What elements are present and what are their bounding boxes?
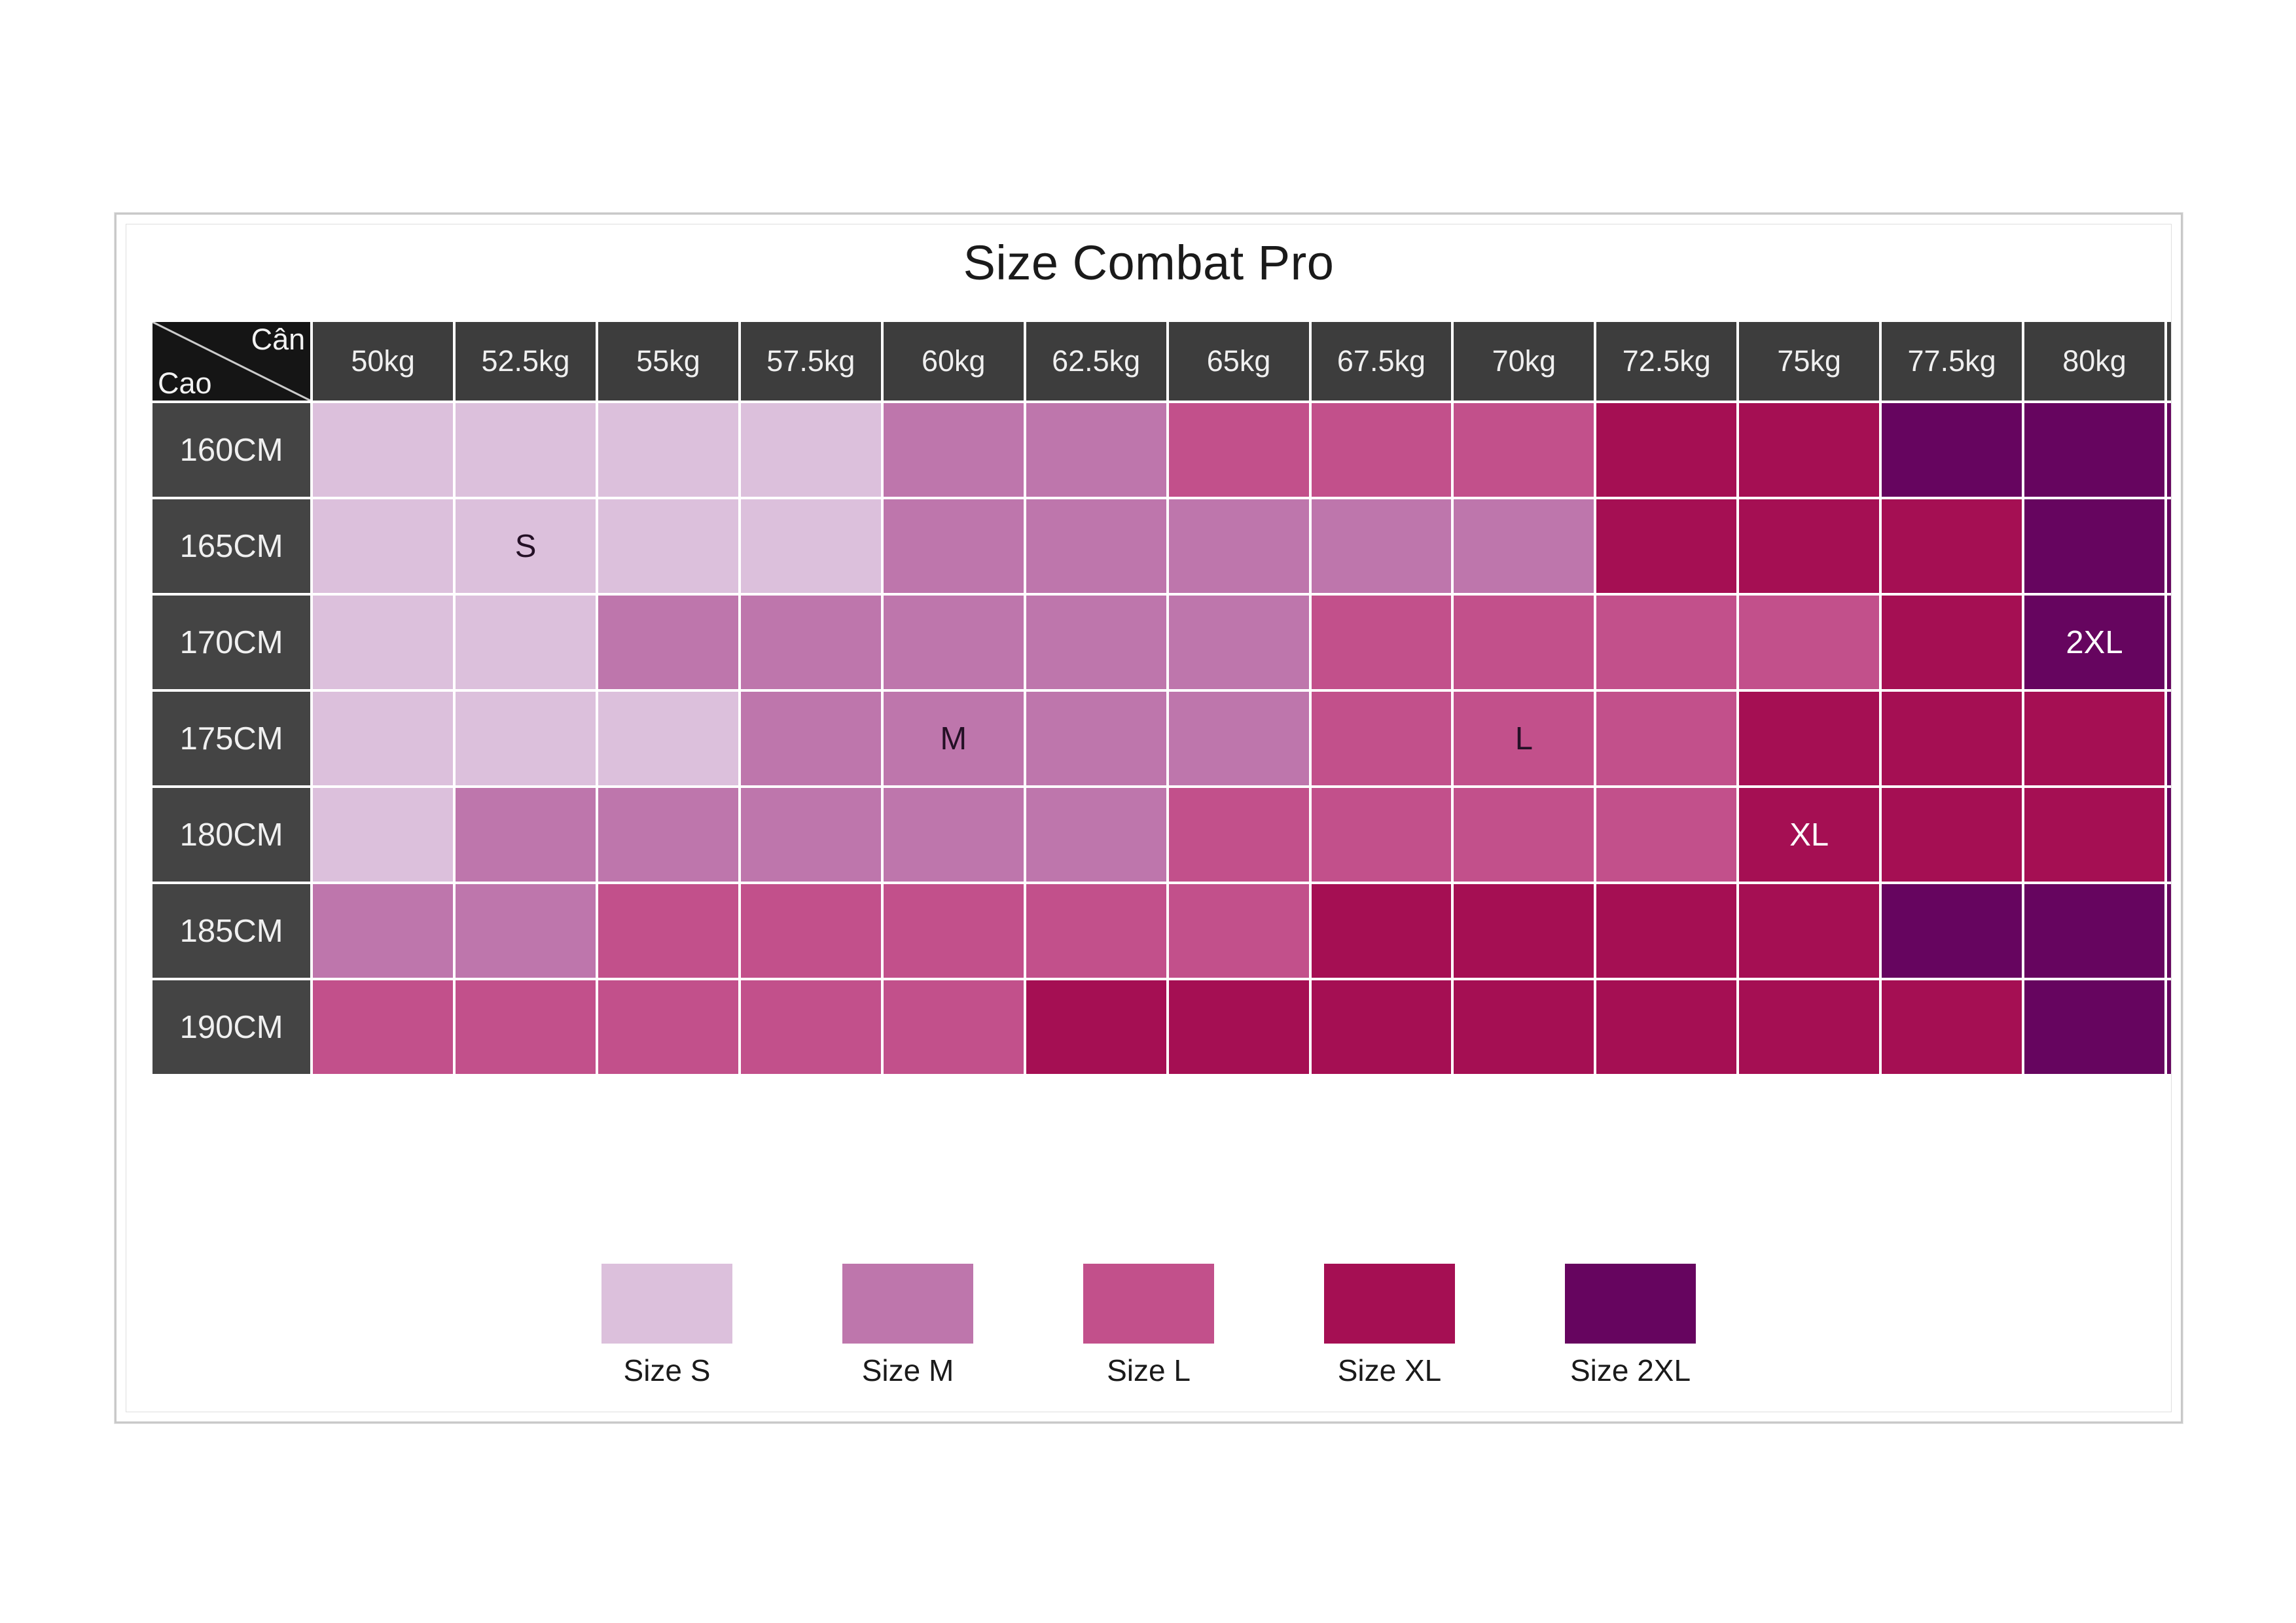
weight-column-header: 67.5kg bbox=[1312, 322, 1452, 401]
legend-swatch bbox=[1565, 1264, 1696, 1344]
legend-item: Size L bbox=[1083, 1264, 1214, 1388]
size-cell: 2XL bbox=[2024, 596, 2164, 689]
size-chart-frame: Size Combat Pro Cân Cao 50kg52.5kg55kg57… bbox=[115, 213, 2183, 1423]
size-cell bbox=[1312, 692, 1452, 785]
table-row: 170CM2XL bbox=[152, 596, 2171, 689]
size-cell bbox=[456, 403, 596, 497]
height-row-header: 185CM bbox=[152, 884, 310, 978]
table-row: 165CMS bbox=[152, 499, 2171, 593]
size-cell bbox=[2024, 884, 2164, 978]
size-cell bbox=[1312, 788, 1452, 882]
weight-column-header: 70kg bbox=[1454, 322, 1594, 401]
table-row: 190CM bbox=[152, 980, 2171, 1074]
legend-label: Size 2XL bbox=[1570, 1353, 1691, 1388]
size-cell bbox=[456, 980, 596, 1074]
size-cell bbox=[598, 403, 738, 497]
weight-axis-label: Cân bbox=[251, 325, 306, 354]
table-row: 175CMML bbox=[152, 692, 2171, 785]
height-row-header: 180CM bbox=[152, 788, 310, 882]
size-cell bbox=[1596, 403, 1736, 497]
size-cell bbox=[1169, 499, 1309, 593]
legend-swatch bbox=[842, 1264, 973, 1344]
size-cell bbox=[2167, 499, 2171, 593]
size-cell bbox=[1596, 692, 1736, 785]
axis-corner-cell: Cân Cao bbox=[152, 322, 310, 401]
weight-column-header: 57.5kg bbox=[741, 322, 881, 401]
legend-label: Size M bbox=[862, 1353, 954, 1388]
size-cell bbox=[598, 980, 738, 1074]
size-cell bbox=[884, 884, 1024, 978]
legend-item: Size M bbox=[842, 1264, 973, 1388]
table-body: 160CM165CMS170CM2XL175CMML180CMXL185CM19… bbox=[152, 403, 2171, 1074]
height-row-header: 160CM bbox=[152, 403, 310, 497]
size-cell bbox=[884, 788, 1024, 882]
size-cell bbox=[1882, 692, 2022, 785]
size-cell bbox=[598, 499, 738, 593]
size-cell bbox=[456, 788, 596, 882]
size-cell bbox=[2024, 980, 2164, 1074]
legend-item: Size S bbox=[601, 1264, 732, 1388]
weight-column-header: 80kg bbox=[2024, 322, 2164, 401]
size-cell bbox=[2167, 980, 2171, 1074]
size-cell bbox=[313, 884, 453, 978]
size-cell bbox=[598, 884, 738, 978]
table-row: 160CM bbox=[152, 403, 2171, 497]
size-cell: M bbox=[884, 692, 1024, 785]
size-cell bbox=[1169, 596, 1309, 689]
table-header-row: Cân Cao 50kg52.5kg55kg57.5kg60kg62.5kg65… bbox=[152, 322, 2171, 401]
size-cell bbox=[741, 596, 881, 689]
size-cell bbox=[884, 596, 1024, 689]
size-cell bbox=[313, 692, 453, 785]
size-cell bbox=[741, 403, 881, 497]
size-cell bbox=[313, 499, 453, 593]
size-cell bbox=[741, 788, 881, 882]
legend-label: Size L bbox=[1107, 1353, 1191, 1388]
size-cell bbox=[313, 596, 453, 689]
size-cell bbox=[1454, 499, 1594, 593]
size-cell bbox=[1169, 403, 1309, 497]
size-cell bbox=[1169, 692, 1309, 785]
size-cell bbox=[1882, 980, 2022, 1074]
size-cell bbox=[741, 980, 881, 1074]
legend-swatch bbox=[1083, 1264, 1214, 1344]
size-matrix-table: Cân Cao 50kg52.5kg55kg57.5kg60kg62.5kg65… bbox=[150, 319, 2171, 1077]
weight-column-header: 75kg bbox=[1739, 322, 1879, 401]
size-cell bbox=[1169, 788, 1309, 882]
size-cell bbox=[1882, 788, 2022, 882]
size-cell bbox=[2024, 403, 2164, 497]
size-cell bbox=[1312, 596, 1452, 689]
size-cell bbox=[1596, 596, 1736, 689]
size-cell bbox=[2167, 884, 2171, 978]
size-cell bbox=[456, 596, 596, 689]
weight-column-header: 55kg bbox=[598, 322, 738, 401]
size-cell: XL bbox=[1739, 788, 1879, 882]
size-cell: L bbox=[1454, 692, 1594, 785]
size-cell bbox=[1739, 403, 1879, 497]
size-cell bbox=[1454, 403, 1594, 497]
size-cell bbox=[2024, 788, 2164, 882]
size-cell bbox=[1454, 596, 1594, 689]
weight-column-header: 65kg bbox=[1169, 322, 1309, 401]
size-cell bbox=[456, 884, 596, 978]
size-cell bbox=[2024, 692, 2164, 785]
size-cell bbox=[884, 980, 1024, 1074]
weight-column-header: 62.5kg bbox=[1026, 322, 1166, 401]
height-row-header: 190CM bbox=[152, 980, 310, 1074]
size-cell bbox=[598, 788, 738, 882]
size-cell bbox=[1596, 788, 1736, 882]
size-cell bbox=[1026, 403, 1166, 497]
size-cell bbox=[1312, 403, 1452, 497]
size-cell bbox=[1882, 884, 2022, 978]
weight-column-header: 77.5kg bbox=[1882, 322, 2022, 401]
size-cell bbox=[1739, 980, 1879, 1074]
size-cell bbox=[1739, 692, 1879, 785]
size-cell bbox=[313, 980, 453, 1074]
weight-column-header: 52.5kg bbox=[456, 322, 596, 401]
size-legend: Size SSize MSize LSize XLSize 2XL bbox=[126, 1264, 2171, 1388]
size-cell: S bbox=[456, 499, 596, 593]
size-cell bbox=[2167, 692, 2171, 785]
size-grid-container: Cân Cao 50kg52.5kg55kg57.5kg60kg62.5kg65… bbox=[150, 319, 2171, 1098]
size-cell bbox=[1312, 884, 1452, 978]
size-cell bbox=[1169, 884, 1309, 978]
size-cell bbox=[2024, 499, 2164, 593]
size-cell bbox=[1026, 499, 1166, 593]
size-cell bbox=[1739, 596, 1879, 689]
size-cell bbox=[1026, 692, 1166, 785]
height-axis-label: Cao bbox=[158, 368, 212, 398]
size-cell bbox=[1312, 499, 1452, 593]
size-cell bbox=[313, 788, 453, 882]
size-cell bbox=[1454, 884, 1594, 978]
size-cell bbox=[741, 692, 881, 785]
legend-label: Size XL bbox=[1338, 1353, 1442, 1388]
size-cell bbox=[1454, 980, 1594, 1074]
size-cell bbox=[1026, 788, 1166, 882]
weight-column-header: 60kg bbox=[884, 322, 1024, 401]
size-cell bbox=[741, 884, 881, 978]
size-cell bbox=[2167, 403, 2171, 497]
weight-column-header: 82.5kg bbox=[2167, 322, 2171, 401]
legend-swatch bbox=[601, 1264, 732, 1344]
weight-column-header: 72.5kg bbox=[1596, 322, 1736, 401]
size-cell bbox=[598, 596, 738, 689]
size-cell bbox=[1454, 788, 1594, 882]
size-cell bbox=[1882, 403, 2022, 497]
size-cell bbox=[1882, 596, 2022, 689]
size-cell bbox=[1312, 980, 1452, 1074]
size-cell bbox=[1596, 499, 1736, 593]
size-cell bbox=[1739, 884, 1879, 978]
size-cell bbox=[456, 692, 596, 785]
size-cell bbox=[2167, 596, 2171, 689]
legend-swatch bbox=[1324, 1264, 1455, 1344]
height-row-header: 165CM bbox=[152, 499, 310, 593]
size-cell bbox=[1026, 884, 1166, 978]
size-cell bbox=[1596, 884, 1736, 978]
size-cell bbox=[884, 403, 1024, 497]
size-cell bbox=[2167, 788, 2171, 882]
size-cell bbox=[1169, 980, 1309, 1074]
legend-item: Size XL bbox=[1324, 1264, 1455, 1388]
size-cell bbox=[1026, 596, 1166, 689]
size-cell bbox=[1596, 980, 1736, 1074]
legend-label: Size S bbox=[624, 1353, 711, 1388]
table-row: 180CMXL bbox=[152, 788, 2171, 882]
page-title: Size Combat Pro bbox=[126, 235, 2171, 291]
height-row-header: 175CM bbox=[152, 692, 310, 785]
size-cell bbox=[1739, 499, 1879, 593]
size-cell bbox=[741, 499, 881, 593]
height-row-header: 170CM bbox=[152, 596, 310, 689]
size-cell bbox=[598, 692, 738, 785]
size-cell bbox=[313, 403, 453, 497]
table-row: 185CM bbox=[152, 884, 2171, 978]
size-chart-card: Size Combat Pro Cân Cao 50kg52.5kg55kg57… bbox=[126, 224, 2172, 1412]
size-cell bbox=[1882, 499, 2022, 593]
weight-column-header: 50kg bbox=[313, 322, 453, 401]
size-cell bbox=[884, 499, 1024, 593]
size-cell bbox=[1026, 980, 1166, 1074]
legend-item: Size 2XL bbox=[1565, 1264, 1696, 1388]
